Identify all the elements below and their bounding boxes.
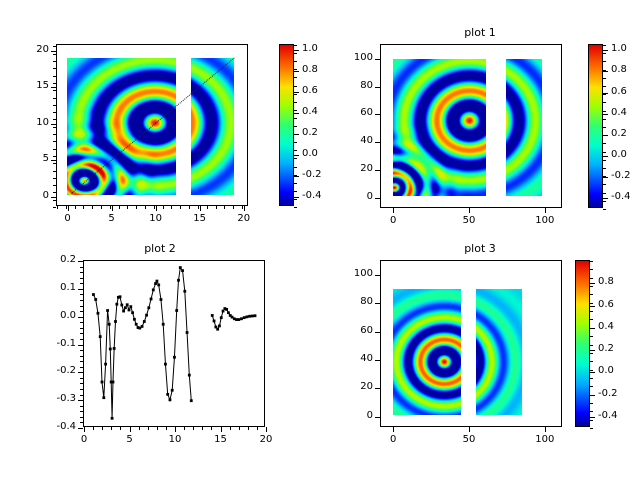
data-point-marker [254,314,257,317]
panel-top-left-axes[interactable] [56,44,248,206]
y-axis-tick [375,275,380,276]
y-axis-minor-tick [53,200,56,201]
colorbar-tick [603,198,608,199]
y-axis-tick-label: 100 [329,52,373,63]
y-axis-minor-tick [80,339,83,340]
y-axis-minor-tick [53,178,56,179]
y-axis-tick [375,198,380,199]
y-axis-minor-tick [80,372,83,373]
y-axis-tick-label: 15 [5,80,49,91]
x-axis-minor-tick [120,427,121,430]
panel-top-right-axes[interactable] [380,44,562,208]
x-axis-minor-tick [102,427,103,430]
colorbar-tick-label: 1.0 [611,43,627,54]
data-point-marker [173,356,176,359]
colorbar-minor-tick [603,86,606,87]
colorbar-tick-label: 0.4 [611,107,627,118]
data-point-marker [164,363,167,366]
y-axis-minor-tick [53,46,56,47]
y-axis-minor-tick [80,395,83,396]
colorbar-minor-tick [603,70,606,71]
data-point-marker [166,393,169,396]
y-axis-tick-label: 5 [5,153,49,164]
x-axis-minor-tick [148,427,149,430]
colorbar-tick [590,306,595,307]
data-point-marker [104,363,107,366]
y-axis-minor-tick [80,333,83,334]
data-point-marker [143,320,146,323]
data-point-marker [119,295,122,298]
data-point-marker [129,305,132,308]
data-point-marker [128,309,131,312]
colorbar-tick-label: -0.2 [598,388,618,399]
x-axis-tick [545,208,546,213]
colorbar-tick [590,417,595,418]
colorbar-tick-label: 0.6 [302,85,318,96]
y-axis-tick-label: -0.4 [32,421,76,432]
y-axis-tick-label: 0 [329,191,373,202]
y-axis-tick-label: 20 [5,44,49,55]
y-axis-tick-label: 0 [329,410,373,421]
y-axis-tick-label: 0.0 [32,310,76,321]
data-point-marker [135,323,138,326]
colorbar-minor-tick [603,209,606,210]
colorbar-minor-tick [590,311,593,312]
colorbar-minor-tick [294,110,297,111]
x-axis-minor-tick [57,206,58,209]
colorbar-minor-tick [294,183,297,184]
colorbar-minor-tick [590,294,593,295]
y-axis-tick-label: -0.2 [32,365,76,376]
colorbar-tick-label: 0.6 [611,86,627,97]
data-point-marker [160,298,163,301]
x-axis-minor-tick [110,206,111,209]
y-axis-tick-label: 40 [329,135,373,146]
x-axis-tick [469,427,470,432]
data-point-marker [186,331,189,334]
x-axis-minor-tick [111,427,112,430]
x-axis-tick-label: 0 [48,213,88,224]
data-point-marker [211,314,214,317]
line-series-group [84,261,264,426]
y-axis-minor-tick [53,127,56,128]
data-point-marker [147,306,150,309]
data-point-marker [108,323,111,326]
y-axis-minor-tick [80,328,83,329]
y-axis-tick [375,87,380,88]
data-point-marker [94,298,97,301]
line-path [93,268,191,419]
y-axis-tick [375,142,380,143]
heatmap-pixels [476,289,523,415]
data-point-marker [190,399,193,402]
colorbar-tick [294,155,299,156]
x-axis-minor-tick [248,427,249,430]
x-axis-tick [244,206,245,211]
heatmap-pixels [506,59,542,196]
data-point-marker [109,348,112,351]
colorbar-tick-label: 0.8 [611,64,627,75]
data-point-marker [157,284,160,287]
colorbar-minor-tick [603,119,606,120]
colorbar-minor-tick [294,150,297,151]
y-axis-tick [51,124,56,125]
colorbar-tick [294,50,299,51]
colorbar-minor-tick [294,126,297,127]
y-axis-tick-label: 40 [329,353,373,364]
colorbar-tick-label: 0.4 [302,106,318,117]
colorbar-tick-label: -0.2 [611,170,631,181]
colorbar-minor-tick [590,261,593,262]
y-axis-tick [51,197,56,198]
y-axis-minor-tick [80,367,83,368]
data-point-marker [145,314,148,317]
colorbar-minor-tick [603,94,606,95]
panel-bottom-left-axes[interactable] [83,260,265,427]
x-axis-minor-tick [233,206,234,209]
panel-top-right: plot 1 050100020406080100 1.00.80.60.40.… [320,0,640,240]
colorbar-minor-tick [590,345,593,346]
y-axis-tick-label: -0.3 [32,393,76,404]
y-axis-tick-label: 20 [329,381,373,392]
x-axis-tick [393,208,394,213]
colorbar-minor-tick [590,403,593,404]
y-axis-minor-tick [80,400,83,401]
x-axis-minor-tick [224,206,225,209]
heatmap-band [476,289,523,415]
y-axis-tick [375,59,380,60]
heatmap-band [393,59,486,196]
colorbar-minor-tick [294,191,297,192]
x-axis-tick-label: 0 [64,434,104,445]
x-axis-tick-label: 20 [224,213,264,224]
data-point-marker [171,389,174,392]
colorbar-minor-tick [294,94,297,95]
data-point-marker [99,335,102,338]
colorbar-gradient [589,45,602,207]
colorbar-tick [603,177,608,178]
x-axis-minor-tick [193,427,194,430]
data-point-marker [92,293,95,296]
x-axis-minor-tick [119,206,120,209]
colorbar-gradient [576,261,589,426]
y-axis-minor-tick [53,149,56,150]
colorbar-tick-label: 0.0 [302,148,318,159]
y-axis-minor-tick [80,317,83,318]
colorbar-tick-label: 0.4 [598,321,614,332]
y-axis-tick [375,360,380,361]
data-point-marker [126,303,129,306]
colorbar-tick-label: 0.8 [302,64,318,75]
x-axis-tick-label: 10 [136,213,176,224]
colorbar-minor-tick [603,168,606,169]
colorbar-tick-label: 0.0 [598,365,614,376]
y-axis-minor-tick [80,428,83,429]
colorbar-minor-tick [590,370,593,371]
data-point-marker [141,325,144,328]
panel-top-right-title: plot 1 [320,26,640,39]
x-axis-minor-tick [230,427,231,430]
data-point-marker [222,310,225,313]
colorbar-minor-tick [603,111,606,112]
data-point-marker [177,279,180,282]
y-axis-minor-tick [53,68,56,69]
colorbar-tick [294,176,299,177]
colorbar-minor-tick [294,175,297,176]
colorbar-minor-tick [603,78,606,79]
y-axis-minor-tick [53,141,56,142]
x-axis-minor-tick [157,427,158,430]
x-axis-minor-tick [257,427,258,430]
x-axis-minor-tick [189,206,190,209]
y-axis-minor-tick [53,134,56,135]
y-axis-tick-label: 80 [329,80,373,91]
x-axis-tick-label: 15 [180,213,220,224]
y-axis-tick [375,332,380,333]
data-point-marker [150,298,153,301]
colorbar-minor-tick [603,152,606,153]
x-axis-minor-tick [184,427,185,430]
colorbar-minor-tick [294,207,297,208]
data-point-marker [183,290,186,293]
x-axis-minor-tick [136,206,137,209]
heatmap-band [191,58,234,195]
x-axis-minor-tick [127,206,128,209]
colorbar-minor-tick [294,158,297,159]
data-point-marker [154,282,157,285]
x-axis-tick [393,427,394,432]
y-axis-minor-tick [53,83,56,84]
colorbar-minor-tick [603,201,606,202]
x-axis-minor-tick [163,206,164,209]
colorbar-minor-tick [603,160,606,161]
data-point-marker [218,325,221,328]
y-axis-tick [51,87,56,88]
panel-bottom-right-colorbar[interactable] [575,260,590,427]
data-point-marker [133,318,136,321]
panel-top-right-colorbar[interactable] [588,44,603,208]
y-axis-minor-tick [53,156,56,157]
colorbar-tick-label: 0.2 [598,343,614,354]
colorbar-tick-label: -0.2 [302,169,322,180]
y-axis-minor-tick [80,378,83,379]
data-point-marker [122,310,125,313]
data-point-marker [97,312,100,315]
x-axis-minor-tick [175,427,176,430]
colorbar-minor-tick [294,61,297,62]
colorbar-tick [590,283,595,284]
y-axis-tick [375,303,380,304]
y-axis-minor-tick [53,192,56,193]
data-point-marker [124,306,127,309]
figure-canvas: 0510152005101520 1.00.80.60.40.20.0-0.2-… [0,0,640,480]
data-point-marker [102,396,105,399]
y-axis-minor-tick [80,383,83,384]
y-axis-tick-label: 0.1 [32,282,76,293]
y-axis-minor-tick [53,105,56,106]
data-point-marker [179,266,182,269]
x-axis-minor-tick [93,427,94,430]
x-axis-minor-tick [211,427,212,430]
colorbar-minor-tick [603,184,606,185]
colorbar-tick-label: -0.4 [611,191,631,202]
x-axis-tick [68,206,69,211]
y-axis-minor-tick [80,322,83,323]
data-point-marker [243,316,246,319]
colorbar-tick-label: 0.2 [302,127,318,138]
x-axis-minor-tick [84,427,85,430]
data-point-marker [225,308,228,311]
data-point-marker [237,318,240,321]
colorbar-minor-tick [294,45,297,46]
colorbar-tick [590,372,595,373]
y-axis-minor-tick [53,90,56,91]
colorbar-tick [294,197,299,198]
colorbar-minor-tick [590,319,593,320]
y-axis-tick-label: 60 [329,107,373,118]
x-axis-tick-label: 100 [525,215,565,226]
x-axis-minor-tick [266,427,267,430]
x-axis-minor-tick [145,206,146,209]
colorbar-minor-tick [590,386,593,387]
colorbar-minor-tick [603,176,606,177]
y-axis-minor-tick [80,356,83,357]
x-axis-minor-tick [239,427,240,430]
heatmap-pixels [393,289,461,415]
colorbar-tick [603,71,608,72]
colorbar-minor-tick [590,303,593,304]
y-axis-minor-tick [53,185,56,186]
x-axis-tick-label: 15 [201,434,241,445]
x-axis-minor-tick [207,206,208,209]
colorbar-minor-tick [590,328,593,329]
heatmap-band [67,58,175,195]
colorbar-tick [603,114,608,115]
x-axis-tick-label: 5 [110,434,150,445]
data-point-marker [162,323,165,326]
colorbar-minor-tick [590,420,593,421]
y-axis-minor-tick [80,350,83,351]
panel-bottom-right: plot 3 050100020406080100 0.80.60.40.20.… [320,240,640,480]
data-point-marker [115,303,118,306]
y-axis-tick [375,170,380,171]
y-axis-minor-tick [80,389,83,390]
x-axis-minor-tick [83,206,84,209]
y-axis-minor-tick [53,207,56,208]
heatmap-band [506,59,542,196]
panel-top-left-colorbar[interactable] [279,44,294,206]
colorbar-minor-tick [603,127,606,128]
y-axis-minor-tick [53,76,56,77]
colorbar-tick [603,156,608,157]
panel-bottom-left: plot 2 051015200.20.10.0-0.1-0.2-0.3-0.4 [0,240,320,480]
colorbar-minor-tick [603,61,606,62]
y-axis-tick-label: 0 [5,190,49,201]
y-axis-tick [375,388,380,389]
colorbar-minor-tick [294,69,297,70]
x-axis-minor-tick [130,427,131,430]
y-axis-minor-tick [80,261,83,262]
y-axis-minor-tick [80,411,83,412]
data-point-marker [216,328,219,331]
x-axis-tick-label: 20 [246,434,286,445]
y-axis-tick-label: 100 [329,268,373,279]
y-axis-minor-tick [80,406,83,407]
data-point-marker [175,309,178,312]
y-axis-tick-label: 80 [329,296,373,307]
panel-bottom-right-axes[interactable] [380,260,562,427]
y-axis-minor-tick [80,272,83,273]
x-axis-minor-tick [202,427,203,430]
colorbar-minor-tick [294,86,297,87]
x-axis-minor-tick [101,206,102,209]
colorbar-tick-label: 1.0 [302,43,318,54]
data-point-marker [112,381,115,384]
y-axis-tick [375,417,380,418]
colorbar-minor-tick [294,134,297,135]
x-axis-tick [112,206,113,211]
x-axis-tick [545,427,546,432]
data-point-marker [131,311,134,314]
colorbar-minor-tick [294,167,297,168]
colorbar-minor-tick [590,361,593,362]
colorbar-tick-label: -0.4 [598,410,618,421]
colorbar-minor-tick [294,77,297,78]
y-axis-minor-tick [80,345,83,346]
colorbar-minor-tick [590,286,593,287]
y-axis-minor-tick [53,98,56,99]
y-axis-tick [375,114,380,115]
colorbar-minor-tick [603,135,606,136]
data-point-marker [240,317,243,320]
colorbar-gradient [280,45,293,205]
y-axis-tick-label: 60 [329,325,373,336]
y-axis-minor-tick [80,306,83,307]
y-axis-tick-label: 0.2 [32,254,76,265]
y-axis-minor-tick [80,283,83,284]
x-axis-minor-tick [242,206,243,209]
y-axis-minor-tick [53,163,56,164]
heatmap-band [393,289,461,415]
colorbar-minor-tick [603,53,606,54]
colorbar-tick [590,350,595,351]
y-axis-tick-label: 20 [329,163,373,174]
y-axis-minor-tick [80,278,83,279]
y-axis-minor-tick [80,267,83,268]
x-axis-tick [469,208,470,213]
y-axis-minor-tick [80,300,83,301]
x-axis-minor-tick [166,427,167,430]
y-axis-minor-tick [80,422,83,423]
data-point-marker [111,417,114,420]
x-axis-tick [156,206,157,211]
panel-top-left: 0510152005101520 1.00.80.60.40.20.0-0.2-… [0,0,320,240]
y-axis-minor-tick [80,417,83,418]
x-axis-tick-label: 5 [92,213,132,224]
data-point-marker [248,315,251,318]
data-point-marker [101,381,104,384]
colorbar-minor-tick [603,143,606,144]
x-axis-tick-label: 50 [449,215,489,226]
heatmap-pixels [393,59,486,196]
colorbar-tick-label: 0.8 [598,276,614,287]
x-axis-minor-tick [180,206,181,209]
colorbar-minor-tick [603,193,606,194]
colorbar-tick-label: 0.6 [598,299,614,310]
colorbar-minor-tick [590,395,593,396]
colorbar-tick-label: 0.2 [611,128,627,139]
x-axis-minor-tick [198,206,199,209]
